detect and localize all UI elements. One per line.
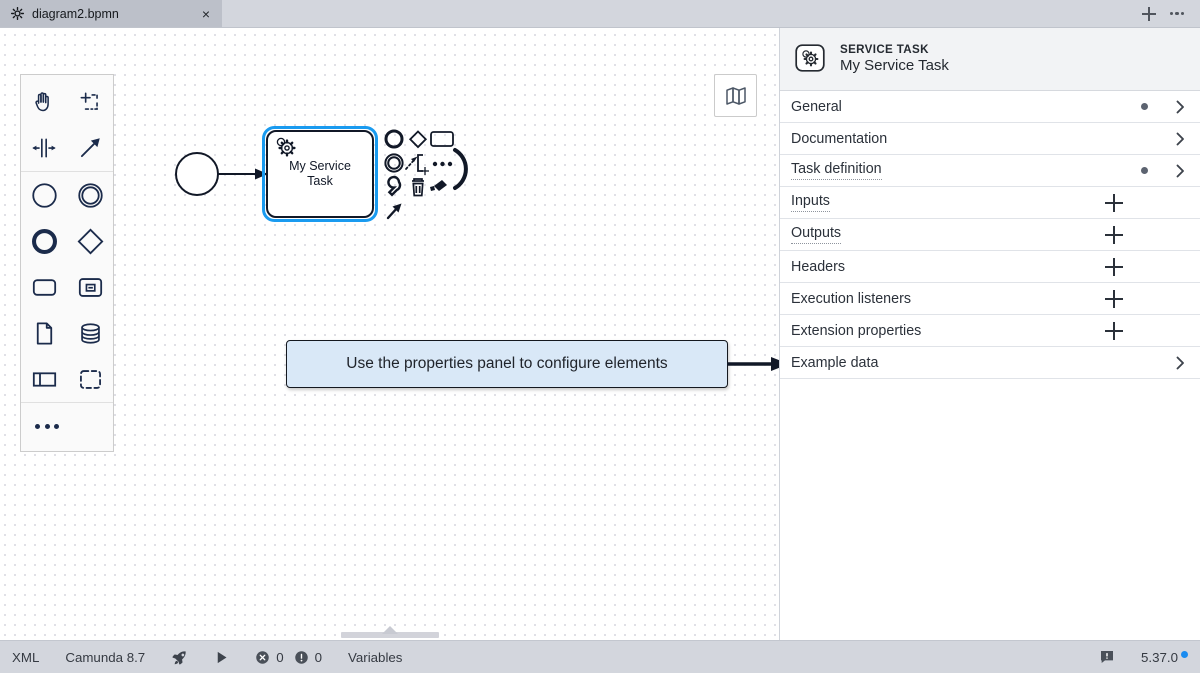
callout-arrow-icon xyxy=(727,356,780,372)
minimap-toggle-button[interactable] xyxy=(714,74,757,117)
group-label: Outputs xyxy=(791,225,841,243)
context-pad xyxy=(385,131,466,218)
service-task: My Service Task xyxy=(264,128,377,221)
add-header-button[interactable] xyxy=(1105,258,1123,276)
gateway-icon[interactable] xyxy=(67,218,113,264)
play-icon xyxy=(214,650,229,665)
chevron-right-icon xyxy=(1174,132,1186,146)
task-icon[interactable] xyxy=(21,264,67,310)
chevron-right-icon xyxy=(1174,100,1186,114)
properties-group-headers[interactable]: Headers xyxy=(780,251,1200,283)
properties-group-task-definition[interactable]: Task definition xyxy=(780,155,1200,187)
status-variables-button[interactable]: Variables xyxy=(335,641,415,673)
rocket-icon xyxy=(171,649,188,666)
version-wrapper: 5.37.0 xyxy=(1141,650,1188,665)
group-label: Documentation xyxy=(791,131,1031,147)
wrench-icon xyxy=(388,177,400,195)
add-execution-listener-button[interactable] xyxy=(1105,290,1123,308)
palette-group-elements xyxy=(21,171,113,402)
element-type-label: SERVICE TASK xyxy=(840,43,949,56)
group-label: General xyxy=(791,99,1141,115)
status-problems-button[interactable]: 0 0 xyxy=(242,641,335,673)
properties-group-example-data[interactable]: Example data xyxy=(780,347,1200,379)
connect-icon xyxy=(406,157,418,170)
data-store-icon[interactable] xyxy=(67,310,113,356)
delete-icon xyxy=(412,179,424,196)
version-label: 5.37.0 xyxy=(1141,650,1178,665)
hand-tool-icon[interactable] xyxy=(21,79,67,125)
properties-panel-header: SERVICE TASK My Service Task xyxy=(780,28,1200,91)
loop-marker-icon xyxy=(455,150,466,188)
status-run-button[interactable] xyxy=(201,641,242,673)
add-extension-property-button[interactable] xyxy=(1105,322,1123,340)
more-elements-icon[interactable] xyxy=(21,403,113,449)
minimap-icon xyxy=(724,84,748,108)
append-text-annotation-icon xyxy=(418,155,429,175)
palette-group-more xyxy=(21,402,113,449)
data-object-icon[interactable] xyxy=(21,310,67,356)
add-input-button[interactable] xyxy=(1105,194,1123,212)
svg-text:Task: Task xyxy=(307,174,333,188)
group-label: Execution listeners xyxy=(791,291,1008,307)
group-icon[interactable] xyxy=(67,356,113,402)
subprocess-icon[interactable] xyxy=(67,264,113,310)
properties-group-execution-listeners[interactable]: Execution listeners xyxy=(780,283,1200,315)
properties-group-outputs[interactable]: Outputs xyxy=(780,219,1200,251)
tab-diagram2-bpmn[interactable]: diagram2.bpmn × xyxy=(0,0,222,27)
sequence-flow xyxy=(218,169,268,180)
bpmn-palette xyxy=(20,74,114,452)
append-end-event-icon xyxy=(386,131,402,147)
start-event-icon[interactable] xyxy=(21,172,67,218)
status-engine-selector[interactable]: Camunda 8.7 xyxy=(52,641,158,673)
participant-icon[interactable] xyxy=(21,356,67,402)
onboarding-callout: Use the properties panel to configure el… xyxy=(286,340,728,388)
chevron-right-icon xyxy=(1174,164,1186,178)
connect-arrow-icon xyxy=(388,204,402,219)
warning-icon xyxy=(294,650,309,665)
group-label: Example data xyxy=(791,355,1026,371)
status-bar: XML Camunda 8.7 0 xyxy=(0,640,1200,673)
append-gateway-icon xyxy=(410,132,426,148)
tab-bar: diagram2.bpmn × xyxy=(0,0,1200,28)
group-filled-indicator xyxy=(1141,103,1148,110)
properties-group-general[interactable]: General xyxy=(780,91,1200,123)
group-label: Inputs xyxy=(791,193,830,211)
update-available-badge xyxy=(1181,651,1188,658)
tab-title: diagram2.bpmn xyxy=(32,7,190,21)
callout-text: Use the properties panel to configure el… xyxy=(346,355,667,373)
tab-bar-actions xyxy=(1138,0,1200,27)
chevron-up-icon[interactable] xyxy=(382,626,398,634)
properties-panel: SERVICE TASK My Service Task General Doc… xyxy=(780,28,1200,640)
xml-label: XML xyxy=(12,650,39,665)
plus-icon xyxy=(1142,7,1156,21)
group-label: Extension properties xyxy=(791,323,1013,339)
append-intermediate-event-icon xyxy=(385,154,402,171)
main-body: My Service Task xyxy=(0,28,1200,640)
bpmn-diagram: My Service Task xyxy=(0,28,780,640)
chevron-right-icon xyxy=(1174,356,1186,370)
connect-tool-icon[interactable] xyxy=(67,125,113,171)
start-event xyxy=(176,153,218,195)
new-tab-button[interactable] xyxy=(1138,3,1160,25)
camunda-modeler-window: diagram2.bpmn × xyxy=(0,0,1200,673)
engine-label: Camunda 8.7 xyxy=(65,650,145,665)
lasso-tool-icon[interactable] xyxy=(67,79,113,125)
bpmn-canvas[interactable]: My Service Task xyxy=(0,28,780,640)
close-icon[interactable]: × xyxy=(198,6,214,22)
append-task-icon xyxy=(431,132,453,146)
intermediate-event-icon[interactable] xyxy=(67,172,113,218)
properties-panel-title-block: SERVICE TASK My Service Task xyxy=(840,43,949,74)
variables-label: Variables xyxy=(348,650,402,665)
tab-bar-spacer xyxy=(222,0,1138,27)
properties-group-extension-properties[interactable]: Extension properties xyxy=(780,315,1200,347)
group-label: Headers xyxy=(791,259,975,275)
tab-bar-more-button[interactable] xyxy=(1166,3,1188,25)
set-color-icon xyxy=(430,180,447,191)
status-xml-button[interactable]: XML xyxy=(12,641,52,673)
status-deploy-button[interactable] xyxy=(158,641,201,673)
error-count: 0 xyxy=(276,650,283,665)
group-label: Task definition xyxy=(791,161,882,179)
status-version[interactable]: 5.37.0 xyxy=(1128,641,1188,673)
feedback-icon xyxy=(1099,649,1115,665)
more-horizontal-icon xyxy=(35,424,59,429)
properties-group-list: General Documentation Task definition xyxy=(780,91,1200,379)
element-name-label: My Service Task xyxy=(840,57,949,74)
service-task-label: My Service xyxy=(289,159,351,173)
more-horizontal-icon xyxy=(1170,12,1185,15)
status-feedback-button[interactable] xyxy=(1086,641,1128,673)
service-task-icon xyxy=(794,43,826,73)
palette-group-tools xyxy=(21,79,113,171)
canvas-horizontal-scrollbar[interactable] xyxy=(0,626,779,640)
context-pad-more-icon xyxy=(433,162,452,166)
end-event-icon[interactable] xyxy=(21,218,67,264)
error-icon xyxy=(255,650,270,665)
space-tool-icon[interactable] xyxy=(21,125,67,171)
add-output-button[interactable] xyxy=(1105,226,1123,244)
warning-count: 0 xyxy=(315,650,322,665)
properties-group-documentation[interactable]: Documentation xyxy=(780,123,1200,155)
properties-group-inputs[interactable]: Inputs xyxy=(780,187,1200,219)
bpmn-diagram-icon xyxy=(10,7,24,21)
group-filled-indicator xyxy=(1141,167,1148,174)
